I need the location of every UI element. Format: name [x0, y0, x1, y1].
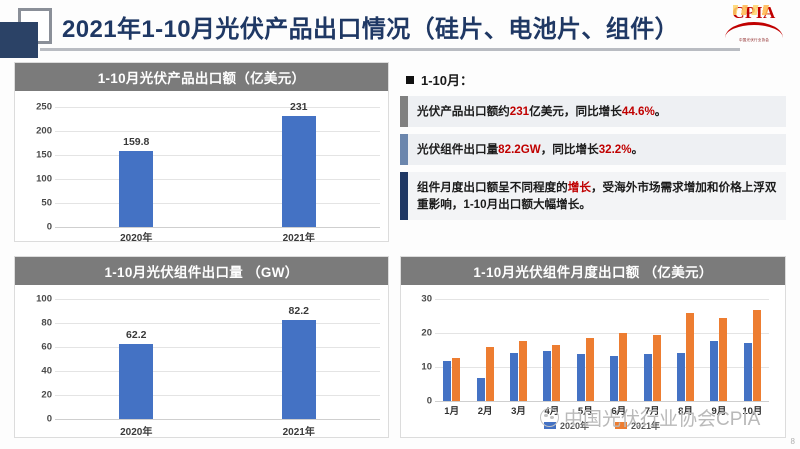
bar-group: 231 [218, 91, 381, 227]
bar-2021年 [753, 310, 761, 401]
y-tick: 60 [41, 342, 52, 353]
bar-group [569, 285, 602, 401]
bar-group [702, 285, 735, 401]
bar-value-label: 82.2 [289, 305, 309, 317]
x-tick: 7月 [635, 403, 668, 417]
chart1-x-axis: 2020年 2021年 [55, 229, 380, 244]
bar-2020年 [610, 356, 618, 401]
y-tick: 10 [421, 362, 432, 373]
bar [119, 344, 153, 419]
highlight-value: 增长 [568, 181, 591, 194]
y-tick: 80 [41, 318, 52, 329]
cpia-arc-icon [725, 22, 783, 38]
x-tick: 9月 [702, 403, 735, 417]
y-tick: 20 [421, 328, 432, 339]
bar-group [602, 285, 635, 401]
bar-2020年 [710, 341, 718, 401]
x-tick: 2020年 [55, 423, 218, 438]
bar-2020年 [744, 343, 752, 401]
text-part: 光伏产品出口额约 [417, 105, 510, 118]
bar-group: 62.2 [55, 285, 218, 419]
bar-2020年 [677, 353, 685, 401]
bar-value-label: 159.8 [123, 136, 149, 148]
bar-2021年 [686, 313, 694, 401]
header-divider [40, 48, 740, 51]
summary-item-text: 组件月度出口额呈不同程度的增长，受海外市场需求增加和价格上浮双重影响，1-10月… [408, 172, 786, 220]
bar-value-label: 231 [290, 101, 308, 113]
bar-group [468, 285, 501, 401]
text-part: 亿美元，同比增长 [529, 105, 622, 118]
summary-item: 组件月度出口额呈不同程度的增长，受海外市场需求增加和价格上浮双重影响，1-10月… [400, 172, 786, 220]
bar-2020年 [443, 361, 451, 401]
highlight-value: 32.2% [599, 143, 632, 156]
bar [119, 151, 153, 227]
x-tick: 2021年 [218, 423, 381, 438]
chart-monthly-export-title: 1-10月光伏组件月度出口额 （亿美元） [401, 257, 785, 285]
bar-2020年 [644, 354, 652, 401]
y-tick: 0 [427, 396, 432, 407]
chart2-x-axis: 2020年 2021年 [55, 423, 380, 438]
legend-item-2020: 2020年 [544, 419, 589, 432]
bar-2020年 [510, 353, 518, 401]
chart2-y-axis: 100 80 60 40 20 0 [15, 285, 55, 438]
y-tick: 100 [36, 174, 52, 185]
bar-value-label: 62.2 [126, 329, 146, 341]
legend-label: 2021年 [631, 419, 660, 432]
y-tick: 0 [47, 222, 52, 233]
bar-2021年 [552, 345, 560, 401]
summary-text-panel: 1-10月： 光伏产品出口额约231亿美元，同比增长44.6%。 光伏组件出口量… [400, 62, 786, 242]
bar-group [635, 285, 668, 401]
y-tick: 100 [36, 294, 52, 305]
bar-group: 159.8 [55, 91, 218, 227]
accent-bar [400, 134, 408, 165]
text-part: 。 [632, 143, 644, 156]
summary-heading-label: 1-10月： [421, 70, 473, 89]
bar-2021年 [452, 358, 460, 402]
decorative-square-filled-icon [0, 22, 38, 58]
legend-label: 2020年 [560, 419, 589, 432]
bar-2021年 [719, 318, 727, 401]
text-part: ，同比增长 [541, 143, 599, 156]
bar-2021年 [486, 347, 494, 401]
cpia-sun-rays-icon [733, 5, 775, 15]
legend-item-2021: 2021年 [615, 419, 660, 432]
x-tick: 1月 [435, 403, 468, 417]
bullet-square-icon [406, 76, 414, 84]
cpia-logo: CPIA 中国光伏行业协会 [723, 4, 785, 46]
x-tick: 2月 [468, 403, 501, 417]
chart-module-volume-plot: 100 80 60 40 20 0 62.2 82.2 [15, 285, 388, 438]
x-tick: 10月 [736, 403, 769, 417]
chart3-y-axis: 30 20 10 0 [401, 285, 435, 438]
chart-module-volume-title: 1-10月光伏组件出口量 （GW） [15, 257, 388, 285]
chart1-bars: 159.8 231 [55, 91, 380, 227]
x-tick: 6月 [602, 403, 635, 417]
text-part: 光伏组件出口量 [417, 143, 498, 156]
bar-2020年 [477, 378, 485, 401]
y-tick: 20 [41, 390, 52, 401]
x-tick: 2020年 [55, 229, 218, 244]
bar-2021年 [586, 338, 594, 401]
x-tick: 3月 [502, 403, 535, 417]
legend-swatch-blue [544, 422, 556, 429]
x-tick: 8月 [669, 403, 702, 417]
highlight-value: 44.6% [622, 105, 655, 118]
text-part: 组件月度出口额呈不同程度的 [417, 181, 568, 194]
legend-swatch-orange [615, 422, 627, 429]
cpia-subtitle-cn: 中国光伏行业协会 [723, 38, 785, 43]
y-tick: 200 [36, 126, 52, 137]
chart3-legend: 2020年 2021年 [435, 419, 769, 432]
page-title: 2021年1-10月光伏产品出口情况（硅片、电池片、组件） [62, 9, 679, 44]
bar-group [535, 285, 568, 401]
bar [282, 320, 316, 419]
chart-export-value-panel: 1-10月光伏产品出口额（亿美元） 250 200 150 100 50 0 1… [14, 62, 389, 242]
bar-group [669, 285, 702, 401]
highlight-value: 82.2GW [498, 143, 541, 156]
chart-monthly-export-plot: 30 20 10 0 1月2月3月4月5月6月7月8月9月10月 2020年 2… [401, 285, 785, 438]
chart-monthly-export-panel: 1-10月光伏组件月度出口额 （亿美元） 30 20 10 0 1月2月3月4月… [400, 256, 786, 438]
y-tick: 150 [36, 150, 52, 161]
y-tick: 0 [47, 414, 52, 425]
summary-item-text: 光伏产品出口额约231亿美元，同比增长44.6%。 [408, 96, 786, 127]
bar-group [435, 285, 468, 401]
chart-export-value-title: 1-10月光伏产品出口额（亿美元） [15, 63, 388, 91]
chart3-x-axis: 1月2月3月4月5月6月7月8月9月10月 [435, 403, 769, 417]
bar [282, 116, 316, 227]
summary-item: 光伏产品出口额约231亿美元，同比增长44.6%。 [400, 96, 786, 127]
chart-module-volume-panel: 1-10月光伏组件出口量 （GW） 100 80 60 40 20 0 62.2 [14, 256, 389, 438]
summary-item-text: 光伏组件出口量82.2GW，同比增长32.2%。 [408, 134, 786, 165]
x-tick: 5月 [569, 403, 602, 417]
slide: 2021年1-10月光伏产品出口情况（硅片、电池片、组件） CPIA 中国光伏行… [0, 0, 800, 449]
bar-group: 82.2 [218, 285, 381, 419]
y-tick: 50 [41, 198, 52, 209]
highlight-value: 231 [510, 105, 529, 118]
bar-2020年 [577, 354, 585, 401]
chart3-bars [435, 285, 769, 401]
bar-2021年 [619, 333, 627, 401]
slide-header: 2021年1-10月光伏产品出口情况（硅片、电池片、组件） CPIA 中国光伏行… [0, 0, 800, 53]
text-part: 。 [655, 105, 667, 118]
y-tick: 40 [41, 366, 52, 377]
x-tick: 4月 [535, 403, 568, 417]
bar-2021年 [519, 341, 527, 401]
page-number: 8 [791, 437, 795, 446]
chart1-y-axis: 250 200 150 100 50 0 [15, 91, 55, 242]
accent-bar [400, 172, 408, 220]
bar-group [502, 285, 535, 401]
x-tick: 2021年 [218, 229, 381, 244]
bar-2020年 [543, 351, 551, 401]
summary-heading: 1-10月： [406, 70, 786, 89]
summary-item: 光伏组件出口量82.2GW，同比增长32.2%。 [400, 134, 786, 165]
bar-group [736, 285, 769, 401]
bar-2021年 [653, 335, 661, 401]
chart2-bars: 62.2 82.2 [55, 285, 380, 419]
y-tick: 30 [421, 294, 432, 305]
chart-export-value-plot: 250 200 150 100 50 0 159.8 231 [15, 91, 388, 242]
accent-bar [400, 96, 408, 127]
y-tick: 250 [36, 102, 52, 113]
